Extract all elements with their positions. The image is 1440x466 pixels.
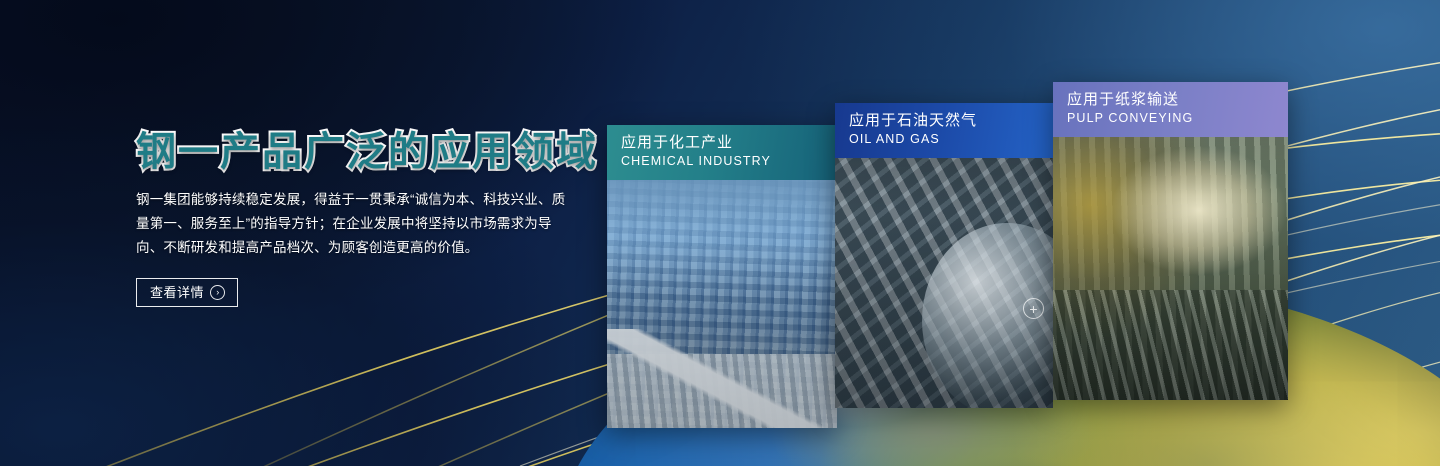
card-header-oilgas: 应用于石油天然气 OIL AND GAS — [835, 103, 1053, 158]
card-image-oilgas: + — [835, 158, 1053, 408]
application-card-pulp[interactable]: 应用于纸浆输送 PULP CONVEYING — [1053, 82, 1288, 400]
card-header-pulp: 应用于纸浆输送 PULP CONVEYING — [1053, 82, 1288, 137]
application-card-chemical[interactable]: 应用于化工产业 CHEMICAL INDUSTRY — [607, 125, 837, 428]
image-shade — [1053, 137, 1288, 400]
card-title-cn: 应用于化工产业 — [621, 132, 837, 153]
card-title-cn: 应用于纸浆输送 — [1067, 89, 1288, 110]
card-image-chemical — [607, 180, 837, 428]
application-card-oilgas[interactable]: 应用于石油天然气 OIL AND GAS + — [835, 103, 1053, 408]
zoom-plus-icon[interactable]: + — [1023, 298, 1044, 319]
card-title-en: OIL AND GAS — [849, 131, 1053, 148]
image-shade — [835, 158, 1053, 408]
hero-banner: 钢一产品广泛的应用领域 钢一集团能够持续稳定发展，得益于一贯秉承“诚信为本、科技… — [0, 0, 1440, 466]
chevron-right-icon: › — [210, 285, 225, 300]
view-details-button[interactable]: 查看详情 › — [136, 278, 238, 307]
hero-paragraph: 钢一集团能够持续稳定发展，得益于一贯秉承“诚信为本、科技兴业、质量第一、服务至上… — [136, 188, 578, 260]
image-shade — [607, 180, 837, 428]
card-title-en: CHEMICAL INDUSTRY — [621, 153, 837, 170]
view-details-label: 查看详情 — [150, 286, 204, 299]
card-title-cn: 应用于石油天然气 — [849, 110, 1053, 131]
page-title: 钢一产品广泛的应用领域 — [136, 132, 606, 172]
card-title-en: PULP CONVEYING — [1067, 110, 1288, 127]
hero-copy: 钢一产品广泛的应用领域 钢一集团能够持续稳定发展，得益于一贯秉承“诚信为本、科技… — [136, 132, 606, 307]
card-header-chemical: 应用于化工产业 CHEMICAL INDUSTRY — [607, 125, 837, 180]
card-image-pulp — [1053, 137, 1288, 400]
